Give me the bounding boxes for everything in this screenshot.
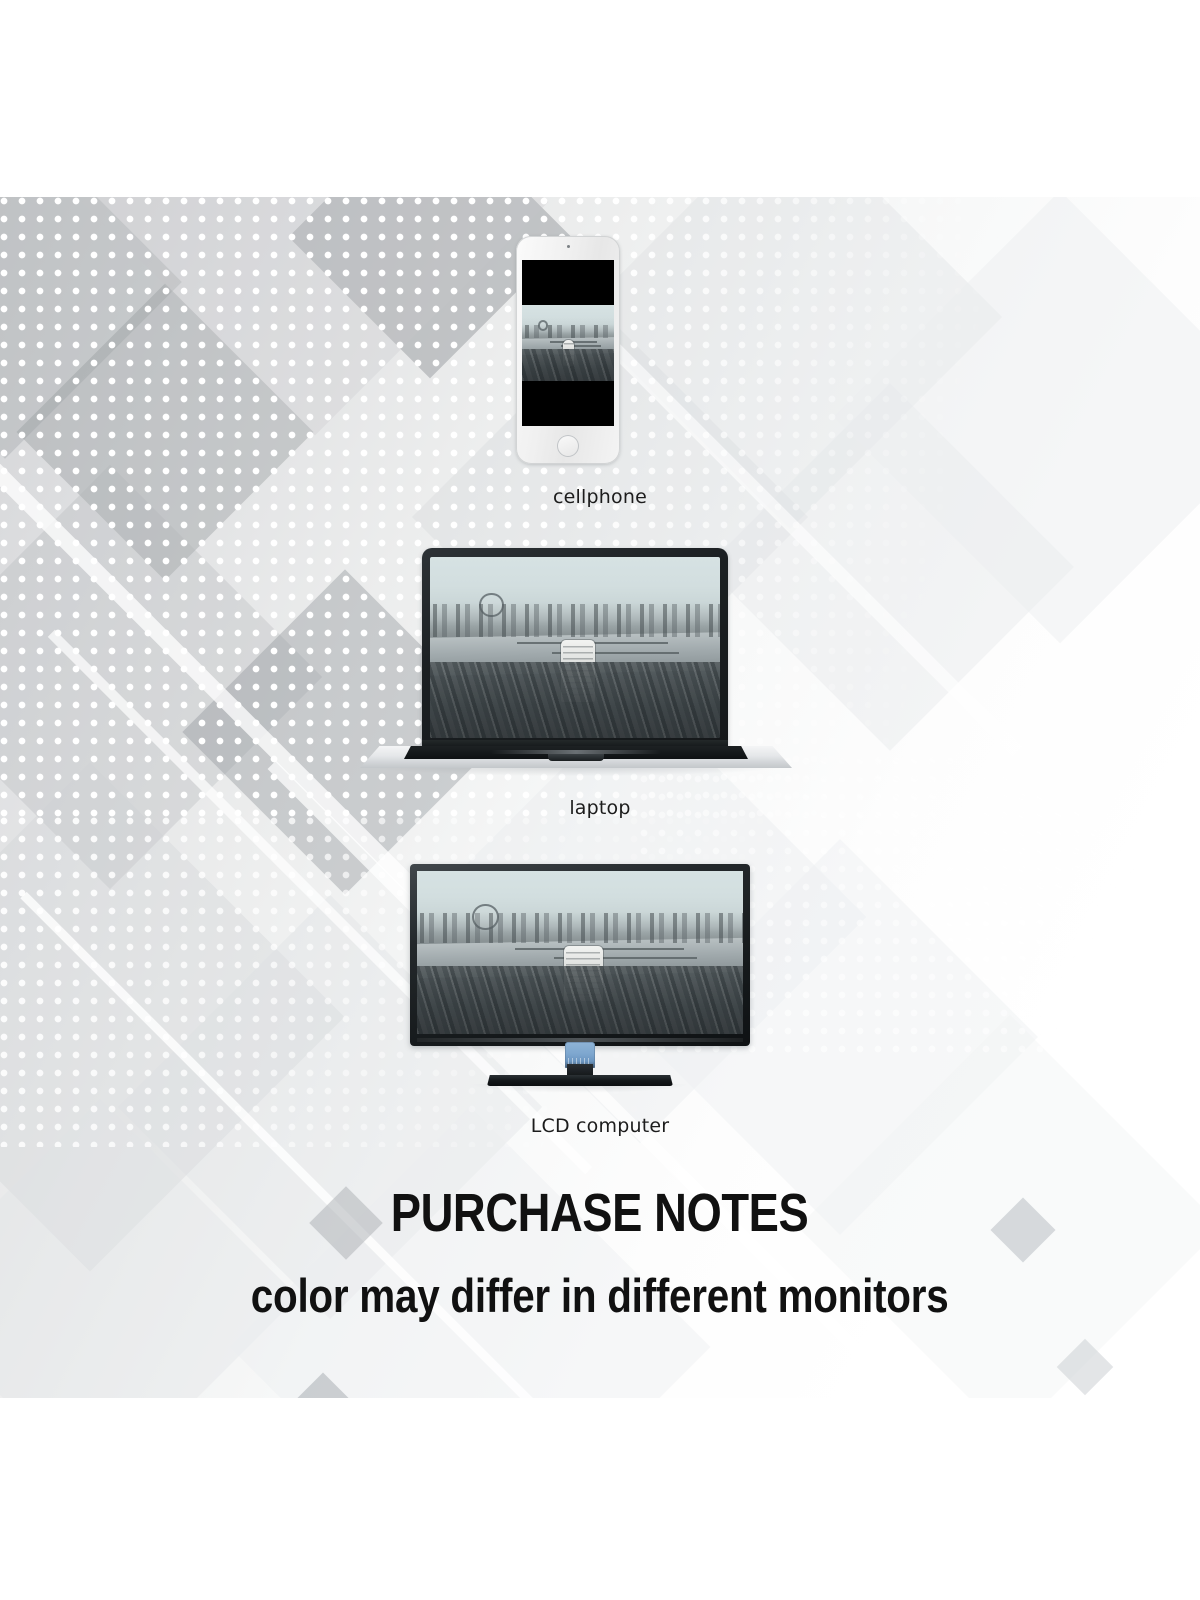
- device-laptop: [360, 540, 792, 778]
- laptop-lid: [422, 548, 728, 748]
- purchase-notes-subheading: color may differ in different monitors: [251, 1272, 949, 1319]
- device-cellphone: [516, 236, 620, 464]
- caption-laptop: laptop: [0, 797, 1200, 819]
- phone-camera-icon: [567, 245, 570, 248]
- purchase-notes-graphic: cellphone laptop: [0, 0, 1200, 1600]
- device-lcd-computer: [410, 864, 750, 1096]
- laptop-screen-image: [430, 557, 720, 738]
- monitor-bezel: [410, 864, 750, 1046]
- phone-screen: [522, 260, 614, 426]
- phone-screen-image: [522, 305, 614, 381]
- purchase-notes-subheading-wrap: color may differ in different monitors: [0, 1272, 1200, 1319]
- phone-home-button: [557, 435, 579, 457]
- monitor-base: [487, 1075, 673, 1086]
- monitor-screen-image: [417, 871, 743, 1034]
- caption-cellphone: cellphone: [0, 486, 1200, 508]
- laptop-lid-notch: [548, 754, 604, 761]
- purchase-notes-heading-wrap: PURCHASE NOTES: [0, 1186, 1200, 1240]
- caption-lcd-computer: LCD computer: [0, 1115, 1200, 1137]
- purchase-notes-heading: PURCHASE NOTES: [391, 1186, 809, 1240]
